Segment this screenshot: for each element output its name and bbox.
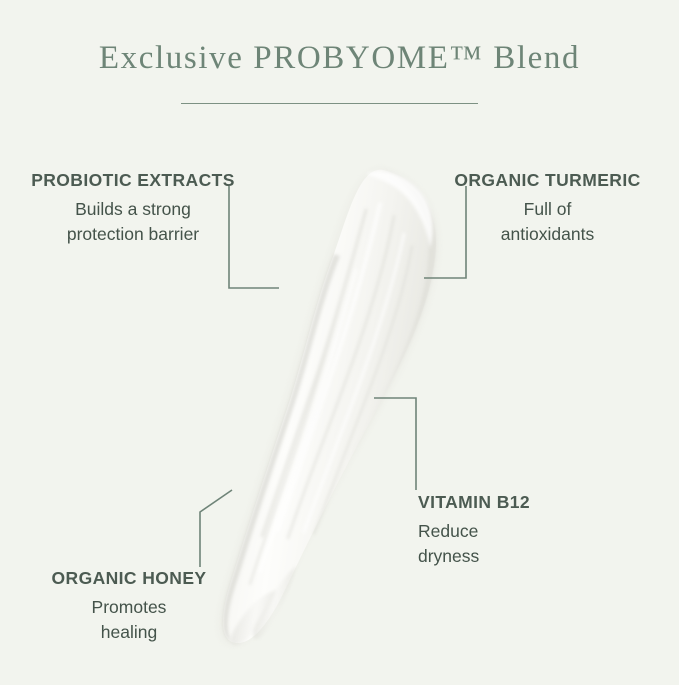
callout-probiotic-heading: PROBIOTIC EXTRACTS [4, 170, 262, 191]
callout-turmeric-heading: ORGANIC TURMERIC [420, 170, 675, 191]
callout-probiotic-body-line2: protection barrier [4, 222, 262, 247]
infographic-page: Exclusive PROBYOME™ Blend [0, 0, 679, 679]
title-divider [181, 103, 478, 104]
callout-honey-body-line2: healing [18, 620, 240, 645]
connector-honey [200, 490, 232, 567]
callout-organic-turmeric: ORGANIC TURMERIC Full of antioxidants [420, 170, 675, 247]
callout-vitamin-body-line1: Reduce [418, 519, 658, 544]
page-title: Exclusive PROBYOME™ Blend [0, 40, 679, 77]
callout-organic-honey: ORGANIC HONEY Promotes healing [18, 568, 240, 645]
callout-turmeric-body: Full of antioxidants [420, 197, 675, 247]
callout-vitamin-heading: VITAMIN B12 [418, 492, 658, 513]
callout-turmeric-body-line1: Full of [420, 197, 675, 222]
callout-vitamin-body: Reduce dryness [418, 519, 658, 569]
callout-probiotic-extracts: PROBIOTIC EXTRACTS Builds a strong prote… [4, 170, 262, 247]
callout-vitamin-b12: VITAMIN B12 Reduce dryness [418, 492, 658, 569]
callout-probiotic-body-line1: Builds a strong [4, 197, 262, 222]
connector-vitamin [374, 398, 416, 490]
callout-honey-heading: ORGANIC HONEY [18, 568, 240, 589]
callout-honey-body: Promotes healing [18, 595, 240, 645]
callout-vitamin-body-line2: dryness [418, 544, 658, 569]
callout-honey-body-line1: Promotes [18, 595, 240, 620]
callout-turmeric-body-line2: antioxidants [420, 222, 675, 247]
callout-probiotic-body: Builds a strong protection barrier [4, 197, 262, 247]
